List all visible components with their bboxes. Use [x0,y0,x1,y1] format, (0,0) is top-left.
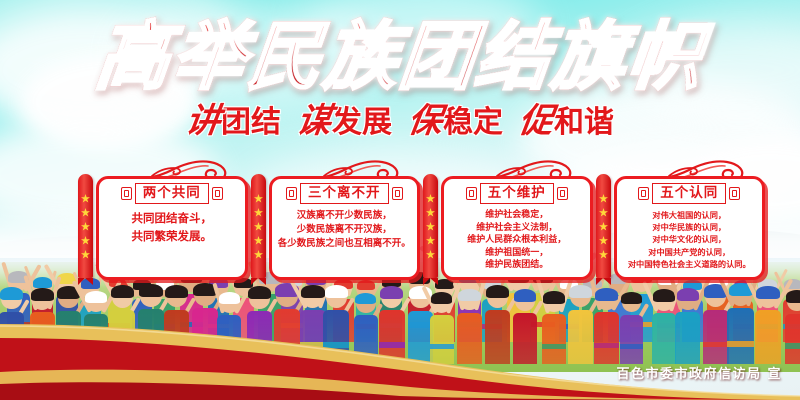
crowd-person [354,294,377,364]
crowd-person-headdress [248,286,271,299]
crowd-person-costume [0,312,24,364]
star-icon [254,194,263,203]
star-icon [81,250,90,259]
crowd-person-headdress [621,292,642,304]
panel-heading: 两个共同 [135,183,209,204]
star-icon [254,250,263,259]
star-divider-strip [78,174,93,278]
crowd-person-headdress [458,289,480,302]
crowd-person-headdress [111,285,134,298]
crowd-person-headdress [786,290,800,302]
crowd-person-headdress [33,277,52,288]
crowd-person [430,294,453,364]
panel-heading-row: 三个离不开 [286,183,403,204]
crowd-person-headdress [380,286,403,299]
star-icon [254,222,263,231]
crowd-person-costume [30,312,55,364]
crowd-person-costume [138,309,164,364]
panel-line: 对中华民族的认同， [628,221,751,233]
crowd-person-sash [542,344,566,349]
crowd-person-sash [430,344,453,349]
crowd-person-costume [620,315,644,364]
panel-line: 维护社会稳定， [467,209,566,222]
star-icon [426,194,435,203]
crowd-person-sash [379,342,405,348]
crowd-person-costume [703,310,729,364]
crowd-person [300,287,326,364]
page-title: 高举民族团结旗帜 [91,14,708,100]
crowd-person [620,293,644,364]
crowd-person-sash [164,342,190,348]
crowd-person [379,287,405,364]
crowd-person-costume [652,313,676,364]
slogan-panel-two-commons[interactable]: 两个共同 共同团结奋斗， 共同繁荣发展。 [93,168,251,280]
crowd-person [109,287,135,364]
crowd-person [675,290,700,365]
crowd-person [247,288,272,364]
panel-card[interactable]: 三个离不开 汉族离不开少数民族， 少数民族离不开汉族， 各少数民族之间也互相离不… [269,176,421,280]
star-icon [81,236,90,245]
crowd-person-sash [620,344,644,349]
crowd-person-costume [457,313,482,364]
crowd-person-costume [430,315,453,364]
subtitle-rest: 和谐 [554,105,614,140]
panel-line: 对中华文化的认同， [628,233,751,245]
crowd-person-headdress [543,291,564,303]
panel-heading-row: 两个共同 [121,183,223,204]
star-icon [599,236,608,245]
crowd-person [542,293,566,364]
crowd-person [30,289,55,364]
panel-body: 共同团结奋斗， 共同繁荣发展。 [132,209,213,245]
panel-heading: 五个维护 [480,183,554,204]
subtitle-lead-char: 促 [516,102,555,140]
crowd-person [513,291,538,365]
panel-line: 对中国特色社会主义道路的认同。 [628,258,751,270]
crowd-person [164,286,190,364]
star-icon [254,208,263,217]
crowd-person-headdress [31,288,53,301]
subtitle-rest: 发展 [332,105,392,140]
subtitle-lead-char: 谋 [294,102,333,140]
star-icon [599,208,608,217]
crowd-person-headdress [756,286,779,299]
crowd-person-sash [217,344,240,349]
panel-body: 汉族离不开少数民族， 少数民族离不开汉族， 各少数民族之间也互相离不开。 [278,209,411,251]
crowd-person-costume [675,312,700,364]
crowd-person [138,285,164,364]
crowd-person [457,290,482,364]
panel-line: 共同团结奋斗， [132,209,213,227]
panel-card[interactable]: 五个维护 维护社会稳定， 维护社会主义法制， 维护人民群众根本利益， 维护祖国统… [441,176,593,280]
panel-line: 少数民族离不开汉族， [278,223,411,237]
title-block: 高举民族团结旗帜 讲团结谋发展保稳定促和谐 [0,14,800,142]
seal-ornament-icon [121,187,132,200]
crowd-person-headdress [569,285,592,298]
crowd-person [217,294,240,364]
crowd-person-headdress [431,292,452,304]
star-icon [81,222,90,231]
crowd-person [192,284,219,364]
star-icon [426,236,435,245]
crowd-person [652,291,676,364]
star-icon [599,222,608,231]
crowd-person-sash [56,342,82,348]
panel-line: 维护社会主义法制， [467,222,566,235]
crowd-person-costume [164,310,190,364]
star-divider-strip [423,174,438,278]
star-icon [426,208,435,217]
crowd-person-sash [727,341,754,347]
crowd-person-headdress [653,289,675,301]
panel-line: 各少数民族之间也互相离不开。 [278,237,411,251]
subtitle: 讲团结谋发展保稳定促和谐 [0,102,800,142]
crowd-person-headdress [219,292,240,304]
panel-heading: 五个认同 [652,183,726,204]
seal-ornament-icon [212,187,223,200]
crowd-person-costume [323,310,349,364]
crowd-person-costume [568,310,594,364]
crowd-person-headdress [325,285,348,298]
slogan-panel-five-safeguards[interactable]: 五个维护 维护社会稳定， 维护社会主义法制， 维护人民群众根本利益， 维护祖国统… [438,168,596,280]
panel-heading-row: 五个认同 [638,183,740,204]
crowd-person [485,287,511,364]
star-icon [81,194,90,203]
crowd-person [274,285,300,364]
crowd-person-costume [109,310,135,364]
panel-body: 维护社会稳定， 维护社会主义法制， 维护人民群众根本利益， 维护祖国统一， 维护… [467,209,566,272]
crowd-person-headdress [165,285,188,298]
crowd-person-sash [138,341,164,347]
star-divider-strip [251,174,266,278]
subtitle-group: 谋发展 [297,105,392,140]
crowd-person-costume [217,315,240,364]
slogan-panel-row: 两个共同 共同团结奋斗， 共同繁荣发展。 [78,168,768,280]
subtitle-group: 促和谐 [519,105,614,140]
crowd-person-costume [274,309,300,364]
star-icon [426,250,435,259]
crowd-person-sash [594,343,619,349]
crowd-person-sash [703,342,729,348]
crowd-person-headdress [486,285,509,298]
crowd-person-costume [785,314,800,364]
crowd-person-costume [594,312,619,364]
subtitle-lead-char: 保 [405,102,444,140]
crowd-person-headdress [677,288,699,301]
subtitle-rest: 稳定 [443,105,503,140]
panel-heading: 三个离不开 [300,183,389,204]
seal-ornament-icon [638,187,649,200]
star-icon [599,250,608,259]
panel-line: 维护祖国统一， [467,247,566,260]
subtitle-group: 讲团结 [186,105,281,140]
issuer-credit: 百色市委市政府信访局 宣 [616,363,782,382]
poster-canvas: 高举民族团结旗帜 讲团结谋发展保稳定促和谐 两 [0,0,800,400]
subtitle-lead-char: 讲 [183,102,222,140]
panel-line: 维护人民群众根本利益， [467,234,566,247]
star-icon [599,194,608,203]
panel-line: 维护民族团结。 [467,259,566,272]
panel-line: 共同繁荣发展。 [132,227,213,245]
crowd-person-headdress [85,291,107,303]
subtitle-group: 保稳定 [408,105,503,140]
crowd-person-costume [513,313,538,364]
crowd-person [84,292,108,364]
seal-ornament-icon [729,187,740,200]
subtitle-rest: 团结 [221,105,281,140]
panel-body: 对伟大祖国的认同， 对中华民族的认同， 对中华文化的认同， 对中国共产党的认同，… [628,209,751,270]
panel-card[interactable]: 两个共同 共同团结奋斗， 共同繁荣发展。 [96,176,248,280]
star-divider-strip [596,174,611,278]
crowd-person-costume [354,315,377,364]
crowd-person-sash [300,342,326,348]
slogan-panel-five-identifications[interactable]: 五个认同 对伟大祖国的认同， 对中华民族的认同， 对中华文化的认同， 对中国共产… [611,168,769,280]
crowd-person-sash [323,342,349,348]
star-icon [426,222,435,231]
slogan-panel-three-inseparables[interactable]: 三个离不开 汉族离不开少数民族， 少数民族离不开汉族， 各少数民族之间也互相离不… [266,168,424,280]
crowd-person [727,284,754,364]
crowd-person-sash [192,341,219,347]
seal-ornament-icon [392,187,403,200]
crowd-person-costume [542,314,566,364]
crowd-person [703,286,729,364]
crowd-person-costume [56,311,82,364]
panel-heading-row: 五个维护 [466,183,568,204]
seal-ornament-icon [286,187,297,200]
crowd-person-headdress [0,287,23,300]
star-icon [81,208,90,217]
crowd-person-costume [84,314,108,364]
crowd-person-costume [755,310,781,364]
crowd-person [785,292,800,364]
crowd-person-sash [84,343,108,348]
crowd-person-headdress [355,293,376,305]
crowd-person-headdress [514,289,536,302]
crowd-person-costume [300,310,326,364]
crowd-person [568,286,594,364]
crowd-person-costume [247,311,272,364]
crowd-person-costume [379,310,405,364]
panel-line: 对伟大祖国的认同， [628,209,751,221]
crowd-person-headdress [301,285,324,298]
crowd-person-costume [727,308,754,364]
crowd-person-sash [0,342,24,348]
crowd-person-costume [192,308,219,364]
crowd-person [594,290,619,364]
crowd-person [56,287,82,364]
crowd-person-headdress [357,280,375,290]
crowd-person [755,287,781,364]
panel-card[interactable]: 五个认同 对伟大祖国的认同， 对中华民族的认同， 对中华文化的认同， 对中国共产… [614,176,766,280]
crowd-person-sash [30,343,55,349]
crowd-person [323,286,349,364]
panel-line: 对中国共产党的认同， [628,246,751,258]
star-icon [254,236,263,245]
crowd-person-headdress [595,288,617,301]
crowd-person-sash [785,343,800,348]
seal-ornament-icon [557,187,568,200]
crowd-person-headdress [139,284,163,297]
seal-ornament-icon [466,187,477,200]
crowd-person-costume [485,310,511,364]
panel-line: 汉族离不开少数民族， [278,209,411,223]
crowd-person [0,289,24,364]
